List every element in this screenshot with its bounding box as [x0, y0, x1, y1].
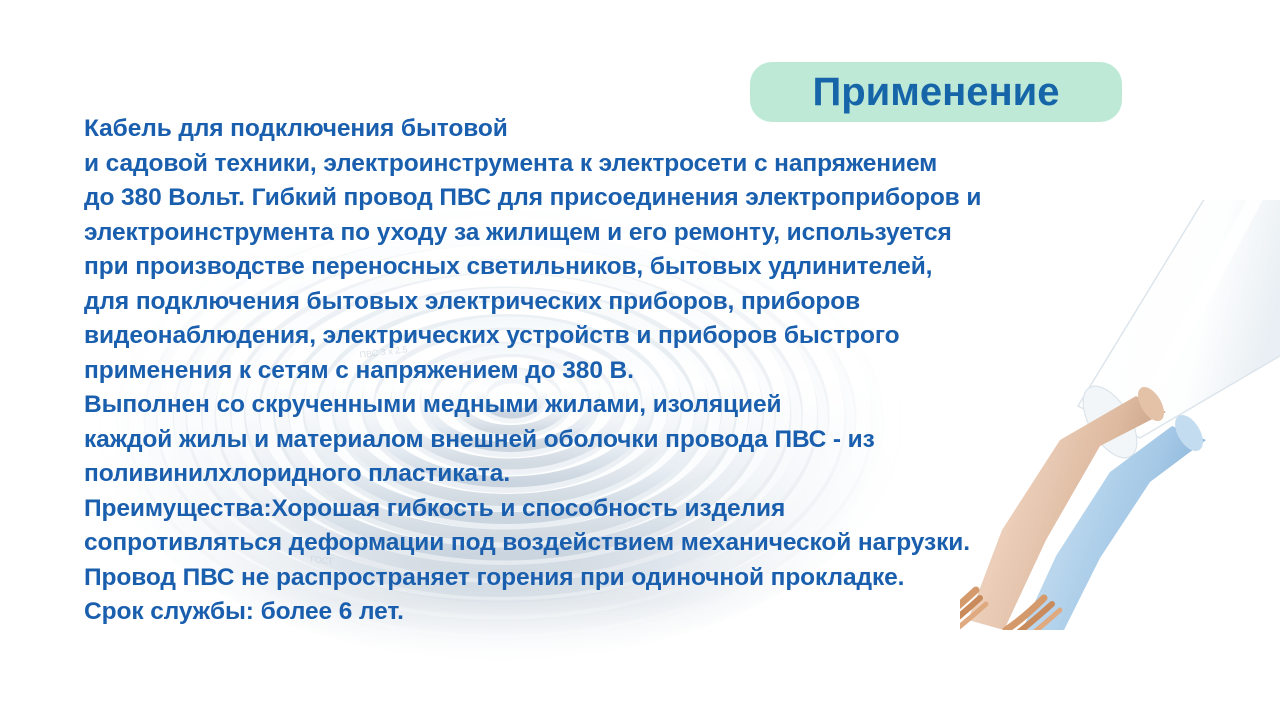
text-line: Кабель для подключения бытовой	[84, 112, 1204, 147]
text-line: каждой жилы и материалом внешней оболочк…	[84, 423, 1204, 458]
text-line: видеонаблюдения, электрических устройств…	[84, 319, 1204, 354]
text-line: до 380 Вольт. Гибкий провод ПВС для прис…	[84, 181, 1204, 216]
text-line: применения к сетям с напряжением до 380 …	[84, 354, 1204, 389]
content-layer: Применение Кабель для подключения бытово…	[0, 0, 1280, 720]
text-line: Выполнен со скрученными медными жилами, …	[84, 388, 1204, 423]
text-line: Провод ПВС не распространяет горения при…	[84, 561, 1204, 596]
text-line: сопротивляться деформации под воздействи…	[84, 526, 1204, 561]
text-line: поливинилхлоридного пластиката.	[84, 457, 1204, 492]
text-line: для подключения бытовых электрических пр…	[84, 285, 1204, 320]
text-line: Преимущества:Хорошая гибкость и способно…	[84, 492, 1204, 527]
page-title: Применение	[812, 72, 1059, 112]
text-line: электроинструмента по уходу за жилищем и…	[84, 216, 1204, 251]
text-line: при производстве переносных светильников…	[84, 250, 1204, 285]
slide-root: ПВС 3 х 2.5 ГОСТ	[0, 0, 1280, 720]
description-text-block: Кабель для подключения бытовой и садовой…	[84, 112, 1204, 630]
text-line: Срок службы: более 6 лет.	[84, 595, 1204, 630]
text-line: и садовой техники, электроинструмента к …	[84, 147, 1204, 182]
